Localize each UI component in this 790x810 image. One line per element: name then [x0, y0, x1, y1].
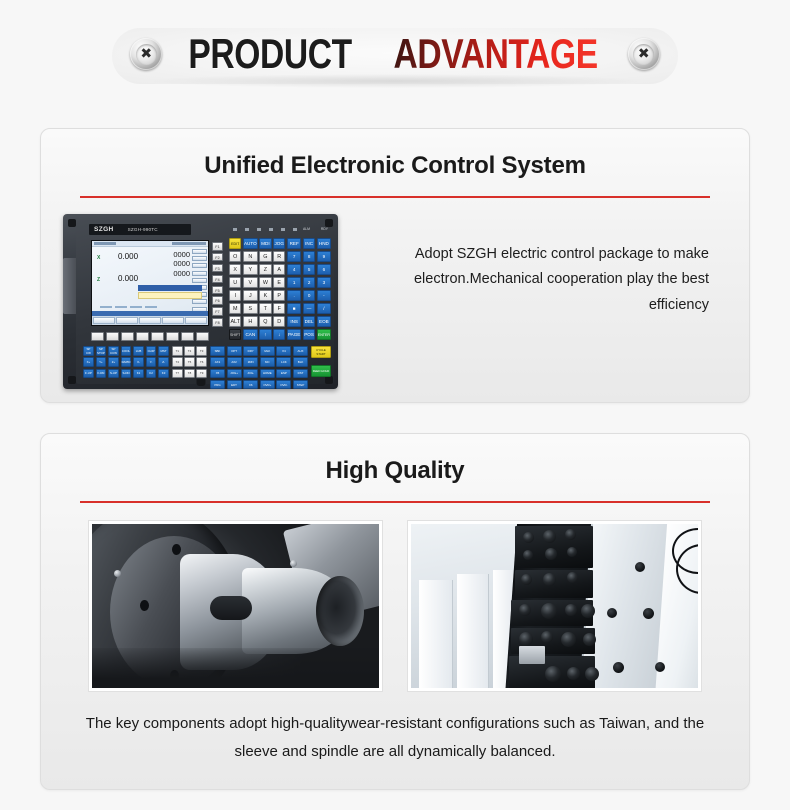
cnc-panel-key-rst[interactable]: RST	[293, 369, 308, 379]
cnc-key-mdi[interactable]: MDI	[259, 238, 271, 249]
cnc-key-x[interactable]: X	[229, 264, 241, 275]
screw-x-glyph: ✖	[140, 47, 152, 61]
cnc-panel-key-step[interactable]: STEP	[293, 380, 308, 389]
cnc-brand-logo: SZGH	[94, 226, 114, 233]
cnc-key-h[interactable]: H	[243, 316, 258, 327]
screw-core: ✖	[633, 44, 654, 65]
spindle-photo	[88, 520, 383, 692]
cnc-panel-key-aux[interactable]: AUX	[293, 346, 308, 356]
chuck-hole	[172, 544, 181, 555]
cnc-key-1[interactable]: 1	[287, 277, 301, 288]
screen-readout-group: 0000 0000 0000	[156, 250, 190, 278]
cnc-panel-key-cool[interactable]: COOL	[121, 346, 132, 356]
cnc-led-label: RDY	[321, 227, 328, 231]
cnc-softkey-strip[interactable]	[91, 332, 209, 341]
cnc-panel-key-t9[interactable]: T9	[196, 369, 207, 379]
tool-bore	[545, 548, 557, 560]
photo-row	[41, 503, 749, 692]
header-title-group: ✖ PRODUCT ADVANTAGE ✖	[130, 33, 659, 75]
cnc-panel-key-sp-stop[interactable]: SP STOP	[96, 346, 107, 356]
card-title: Unified Electronic Control System	[41, 129, 749, 180]
cnc-key-k[interactable]: K	[259, 290, 271, 301]
bed-hole	[643, 608, 654, 619]
panel-slat	[457, 574, 489, 688]
cnc-key-ref[interactable]: REF	[287, 238, 301, 249]
screw-x-glyph: ✖	[638, 47, 650, 61]
cnc-key-jog[interactable]: JOG	[273, 238, 285, 249]
cnc-panel-key-edt[interactable]: EDT	[227, 380, 242, 389]
cnc-panel-key-blk[interactable]: BLK	[293, 357, 308, 367]
cnc-key-pos[interactable]: POS	[303, 329, 315, 340]
cnc-key-f[interactable]: F	[273, 303, 285, 314]
cnc-controller-image: SZGH SZGH-990TC X 0.000 Z 0.000 0000 000…	[63, 214, 338, 389]
tool-bore	[521, 574, 532, 585]
cnc-panel-key-mc[interactable]: MC	[260, 357, 275, 367]
cnc-tool-keys[interactable]: T1T2T3T4T5T6T7T8T9	[172, 346, 207, 377]
cnc-key-shift[interactable]: SHIFT	[229, 329, 241, 340]
screen-readout: 0000	[156, 259, 190, 268]
cnc-corner-screw	[68, 376, 76, 384]
cnc-led-strip: ALM RDY	[229, 226, 330, 234]
cnc-panel-key-dry[interactable]: DRY	[243, 346, 258, 356]
cnc-key-g[interactable]: G	[259, 251, 271, 262]
cnc-panel-key-lck[interactable]: LCK	[276, 357, 291, 367]
cnc-function-key-f4[interactable]: F4	[212, 275, 223, 284]
cnc-panel-key-t5[interactable]: T5	[184, 357, 195, 367]
cnc-key-inc[interactable]: INC	[303, 238, 315, 249]
cnc-panel-key-t1[interactable]: T1	[172, 346, 183, 356]
tool-bore	[565, 604, 577, 616]
screen-topbar	[92, 241, 208, 247]
tool-bore	[567, 547, 577, 557]
cnc-key-n[interactable]: N	[243, 251, 258, 262]
cnc-key-t[interactable]: T	[259, 303, 271, 314]
cnc-panel-key-t3[interactable]: T3	[196, 346, 207, 356]
tool-bore	[543, 573, 556, 586]
cnc-panel-key-mlk[interactable]: MLK	[260, 346, 275, 356]
cnc-key-q[interactable]: Q	[259, 316, 271, 327]
cnc-panel-key-t4[interactable]: T4	[172, 357, 183, 367]
page-header: ✖ PRODUCT ADVANTAGE ✖	[0, 0, 790, 108]
tool-bore	[567, 667, 580, 680]
cnc-cycle-keys[interactable]: CYCLE STARTFEED HOLD	[311, 346, 331, 377]
screw-right-icon: ✖	[628, 38, 660, 70]
bed-hole	[655, 662, 665, 672]
cnc-key--[interactable]: ↓	[273, 329, 285, 340]
cnc-panel-key-s-dn[interactable]: S-DN	[121, 369, 132, 379]
chuck-bolt	[114, 570, 121, 577]
cnc-key-7[interactable]: 7	[287, 251, 301, 262]
card-body-text: Adopt SZGH electric control package to m…	[338, 214, 727, 318]
cnc-function-key-f6[interactable]: F6	[212, 296, 223, 305]
cnc-panel-key-f-up[interactable]: F-UP	[83, 369, 94, 379]
cnc-panel-key-t6[interactable]: T6	[196, 357, 207, 367]
screen-axis-z-label: Z	[97, 277, 100, 283]
cnc-machine-control-keys[interactable]: SP CWSP STOPSP CCWCOOLLUBCHIPMSTX+Y+Z+RA…	[83, 346, 169, 377]
cnc-key--[interactable]: .	[287, 290, 301, 301]
machine-bolt	[290, 560, 297, 567]
cnc-key-e[interactable]: E	[273, 277, 285, 288]
cnc-lower-panel[interactable]: SP CWSP STOPSP CCWCOOLLUBCHIPMSTX+Y+Z+RA…	[83, 346, 331, 377]
cnc-brand-model: SZGH-990TC	[128, 227, 158, 232]
screen-topbar-right	[172, 242, 206, 245]
cnc-key--[interactable]: -	[317, 290, 331, 301]
screen-axis-z-value: 0.000	[118, 274, 138, 283]
cnc-panel-key-feed-hold[interactable]: FEED HOLD	[311, 365, 331, 377]
cnc-function-key-f7[interactable]: F7	[212, 307, 223, 316]
cnc-panel-key-t8[interactable]: T8	[184, 369, 195, 379]
cnc-key--[interactable]: ↑	[259, 329, 271, 340]
cnc-key-w[interactable]: W	[259, 277, 271, 288]
cnc-panel-key-x4[interactable]: X4	[276, 346, 291, 356]
tool-bore	[519, 604, 531, 616]
cnc-panel-key-ax1[interactable]: AX1	[210, 357, 225, 367]
cnc-panel-key-ovr-[interactable]: OVR-	[276, 380, 291, 389]
tool-bore	[523, 532, 534, 543]
cnc-panel-key-t7[interactable]: T7	[172, 369, 183, 379]
tool-bore	[585, 667, 599, 681]
cnc-key-can[interactable]: CAN	[243, 329, 258, 340]
tool-bore	[523, 550, 533, 560]
screen-axis-x-label: X	[97, 255, 100, 261]
bed-hole	[613, 662, 624, 673]
cnc-key-p[interactable]: P	[273, 290, 285, 301]
cnc-key-3[interactable]: 3	[317, 277, 331, 288]
cnc-key-4[interactable]: 4	[287, 264, 301, 275]
cnc-panel-key-k1[interactable]: K1	[133, 369, 144, 379]
spindle-photo-content	[92, 524, 379, 688]
cnc-panel-key-opt[interactable]: OPT	[227, 346, 242, 356]
cnc-panel-key-lub[interactable]: LUB	[133, 346, 144, 356]
metal-tag	[519, 646, 545, 664]
cnc-key-r[interactable]: R	[273, 251, 285, 262]
cnc-panel-key-y-[interactable]: Y-	[146, 357, 157, 367]
cnc-key-u[interactable]: U	[229, 277, 241, 288]
tool-bore	[583, 633, 596, 646]
cnc-panel-key-sp-cw[interactable]: SP CW	[83, 346, 94, 356]
cnc-panel-key-prg[interactable]: PRG	[210, 380, 225, 389]
feature-card-high-quality: High Quality	[40, 433, 750, 790]
cnc-key--[interactable]: /	[317, 303, 331, 314]
spindle-keyway	[210, 596, 252, 620]
cnc-panel-key-k3[interactable]: K3	[158, 369, 169, 379]
cnc-function-key-f1[interactable]: F1	[212, 242, 223, 251]
cnc-side-ear	[63, 258, 76, 314]
cnc-bottom-notch	[196, 379, 205, 386]
cnc-panel-key-sp-ccw[interactable]: SP CCW	[108, 346, 119, 356]
tool-bore	[567, 572, 578, 583]
card-caption: The key components adopt high-qualitywea…	[41, 692, 749, 766]
cnc-key-6[interactable]: 6	[317, 264, 331, 275]
cnc-key-s[interactable]: S	[243, 303, 258, 314]
cnc-key-i[interactable]: I	[229, 290, 241, 301]
cnc-panel-key-cycle-start[interactable]: CYCLE START	[311, 346, 331, 358]
cnc-function-key-f8[interactable]: F8	[212, 318, 223, 327]
cnc-panel-key-jog-[interactable]: JOG+	[227, 369, 242, 379]
chuck-hole	[140, 600, 149, 611]
cnc-panel-key-zrn[interactable]: ZRN	[243, 357, 258, 367]
cnc-panel-key-ax2[interactable]: AX2	[227, 357, 242, 367]
tool-bore	[519, 632, 533, 646]
panel-slat	[419, 580, 453, 688]
card-title: High Quality	[41, 434, 749, 485]
tool-bore	[541, 603, 557, 619]
screen-highlight-row	[138, 285, 202, 291]
card-body: SZGH SZGH-990TC X 0.000 Z 0.000 0000 000…	[41, 198, 749, 389]
cnc-key-2[interactable]: 2	[303, 277, 315, 288]
cnc-key-a[interactable]: A	[273, 264, 285, 275]
cnc-panel-key-esp[interactable]: ESP	[276, 369, 291, 379]
cnc-corner-screw	[325, 376, 333, 384]
photo-shadow	[92, 648, 379, 688]
turret-photo-content	[411, 524, 698, 688]
screen-side-buttons	[192, 249, 207, 314]
bed-hole	[607, 608, 617, 618]
cnc-key-z[interactable]: Z	[259, 264, 271, 275]
cnc-key-enter[interactable]: ENTER	[317, 329, 331, 340]
cnc-panel-key-x6[interactable]: X6	[243, 380, 258, 389]
cnc-panel-key-x-[interactable]: X-	[133, 357, 144, 367]
feature-card-control-system: Unified Electronic Control System SZGH S…	[40, 128, 750, 403]
screen-readout: 0000	[156, 250, 190, 259]
cnc-key-alt[interactable]: ALT	[229, 316, 241, 327]
cnc-panel-key-f-dn[interactable]: F-DN	[96, 369, 107, 379]
cnc-panel-key-home[interactable]: HOME	[260, 369, 275, 379]
cnc-key-del[interactable]: DEL	[303, 316, 315, 327]
cnc-panel-key-ovr-[interactable]: OVR+	[260, 380, 275, 389]
cnc-panel-key-rapid[interactable]: RAPID	[121, 357, 132, 367]
screen-readout: 0000	[156, 269, 190, 278]
cnc-panel-key-k2[interactable]: K2	[146, 369, 157, 379]
cnc-key-j[interactable]: J	[243, 290, 258, 301]
cnc-panel-key-mst[interactable]: MST	[158, 346, 169, 356]
screen-softkey-row	[92, 316, 208, 325]
cnc-function-key-f5[interactable]: F5	[212, 286, 223, 295]
cnc-led-label: ALM	[303, 227, 310, 231]
cnc-function-key-f3[interactable]: F3	[212, 264, 223, 273]
cnc-panel-key-x5[interactable]: X5	[210, 369, 225, 379]
page-title-product: PRODUCT	[189, 33, 352, 75]
cnc-keypad[interactable]: EDITAUTOMDIJOGREFINCHNDONGR789XYZA456UVW…	[229, 238, 331, 340]
cnc-panel-key-t2[interactable]: T2	[184, 346, 195, 356]
screen-axis-x-value: 0.000	[118, 252, 138, 261]
cnc-panel-key-x-[interactable]: X+	[83, 357, 94, 367]
cnc-corner-screw	[68, 219, 76, 227]
cnc-panel-key-s-up[interactable]: S-UP	[108, 369, 119, 379]
cnc-key--[interactable]: —	[303, 303, 315, 314]
cnc-function-key-column[interactable]: F1F2F3F4F5F6F7F8	[212, 242, 223, 329]
tool-bore	[565, 529, 576, 540]
cnc-key-9[interactable]: 9	[317, 251, 331, 262]
tool-bore	[581, 604, 595, 618]
cnc-aux-keys[interactable]: SBKOPTDRYMLKX4AUXAX1AX2ZRNMCLCKBLKX5JOG+…	[210, 346, 308, 377]
bed-hole	[635, 562, 645, 572]
tool-bore	[541, 631, 553, 643]
cnc-key-d[interactable]: D	[273, 316, 285, 327]
tool-bore	[545, 666, 561, 682]
screw-left-icon: ✖	[130, 38, 162, 70]
cnc-chassis: SZGH SZGH-990TC X 0.000 Z 0.000 0000 000…	[63, 214, 338, 389]
spindle-bore	[316, 576, 364, 646]
cnc-key-8[interactable]: 8	[303, 251, 315, 262]
cnc-panel-key-z-[interactable]: Z+	[108, 357, 119, 367]
cnc-key-0[interactable]: 0	[303, 290, 315, 301]
cnc-key-hnd[interactable]: HND	[317, 238, 331, 249]
cnc-key-5[interactable]: 5	[303, 264, 315, 275]
cnc-function-key-f2[interactable]: F2	[212, 253, 223, 262]
cnc-key-eob[interactable]: EOB	[317, 316, 331, 327]
cnc-key--[interactable]: ■	[287, 303, 301, 314]
tool-bore	[561, 632, 576, 647]
cnc-panel-key-sbk[interactable]: SBK	[210, 346, 225, 356]
cnc-panel-key-jog-[interactable]: JOG-	[243, 369, 258, 379]
cnc-key-v[interactable]: V	[243, 277, 258, 288]
cnc-panel-key-y-[interactable]: Y+	[96, 357, 107, 367]
cnc-key-page[interactable]: PAGE	[287, 329, 301, 340]
screen-topbar-left	[94, 242, 116, 245]
cnc-key-auto[interactable]: AUTO	[243, 238, 258, 249]
tool-bore	[543, 530, 556, 543]
page-title-advantage: ADVANTAGE	[394, 33, 598, 75]
cnc-key-o[interactable]: O	[229, 251, 241, 262]
cnc-key-edit[interactable]: EDIT	[229, 238, 241, 249]
turret-photo	[407, 520, 702, 692]
cnc-panel-key-z-[interactable]: Z-	[158, 357, 169, 367]
cnc-key-m[interactable]: M	[229, 303, 241, 314]
cnc-key-y[interactable]: Y	[243, 264, 258, 275]
cnc-panel-key-chip[interactable]: CHIP	[146, 346, 157, 356]
cnc-key-ins[interactable]: INS	[287, 316, 301, 327]
screw-core: ✖	[136, 44, 157, 65]
cnc-display-screen: X 0.000 Z 0.000 0000 0000 0000	[91, 240, 209, 326]
cnc-brand-plate: SZGH SZGH-990TC	[89, 224, 191, 235]
